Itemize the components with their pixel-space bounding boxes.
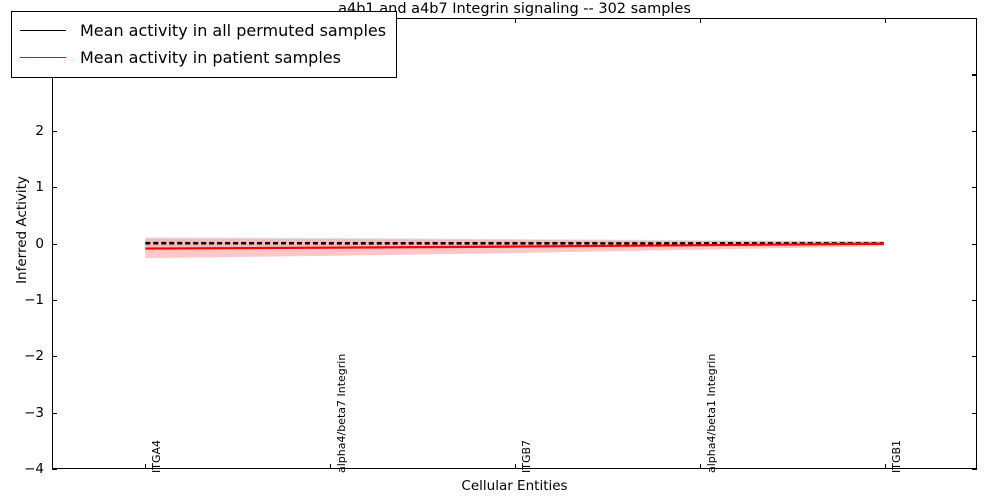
y-tick-mark-right <box>972 131 977 132</box>
y-tick-mark-right <box>972 187 977 188</box>
x-tick-mark-top <box>700 18 701 23</box>
data-series-layer <box>53 19 976 468</box>
legend-label-permuted: Mean activity in all permuted samples <box>80 21 386 40</box>
y-tick-label: 0 <box>0 236 44 252</box>
x-tick-mark <box>515 464 516 469</box>
x-tick-label: alpha4/beta7 Integrin <box>335 354 348 473</box>
figure-canvas: a4b1 and a4b7 Integrin signaling -- 302 … <box>0 0 1000 500</box>
y-tick-label: −4 <box>0 461 44 477</box>
x-tick-label: alpha4/beta1 Integrin <box>705 354 718 473</box>
x-tick-mark-top <box>515 18 516 23</box>
x-tick-mark <box>330 464 331 469</box>
y-tick-label: 1 <box>0 179 44 195</box>
legend: Mean activity in all permuted samples Me… <box>11 11 397 78</box>
y-tick-mark <box>52 469 57 470</box>
y-tick-mark <box>52 244 57 245</box>
x-tick-label: ITGA4 <box>150 440 163 473</box>
y-axis-label: Inferred Activity <box>14 20 30 440</box>
y-tick-mark <box>52 300 57 301</box>
legend-entry-patient: Mean activity in patient samples <box>20 44 386 71</box>
x-tick-mark <box>145 464 146 469</box>
y-tick-mark-right <box>972 469 977 470</box>
x-tick-label: ITGB7 <box>520 440 533 473</box>
x-axis-label: Cellular Entities <box>52 478 977 494</box>
legend-label-patient: Mean activity in patient samples <box>80 48 341 67</box>
y-tick-label: 2 <box>0 123 44 139</box>
legend-swatch-permuted <box>20 30 66 31</box>
y-tick-mark-right <box>972 413 977 414</box>
y-tick-mark <box>52 356 57 357</box>
y-tick-label: −1 <box>0 292 44 308</box>
y-tick-mark-right <box>972 244 977 245</box>
plot-area <box>52 18 977 469</box>
y-tick-mark-right <box>972 18 977 19</box>
y-tick-mark-right <box>972 74 977 75</box>
y-tick-mark <box>52 187 57 188</box>
y-tick-mark-right <box>972 300 977 301</box>
x-tick-mark <box>700 464 701 469</box>
y-tick-mark-right <box>972 356 977 357</box>
y-tick-label: −3 <box>0 405 44 421</box>
y-tick-mark <box>52 131 57 132</box>
legend-entry-permuted: Mean activity in all permuted samples <box>20 17 386 44</box>
y-tick-label: −2 <box>0 348 44 364</box>
x-tick-label: ITGB1 <box>890 440 903 473</box>
legend-swatch-patient <box>20 57 66 58</box>
x-tick-mark-top <box>885 18 886 23</box>
x-tick-mark <box>885 464 886 469</box>
y-tick-mark <box>52 413 57 414</box>
